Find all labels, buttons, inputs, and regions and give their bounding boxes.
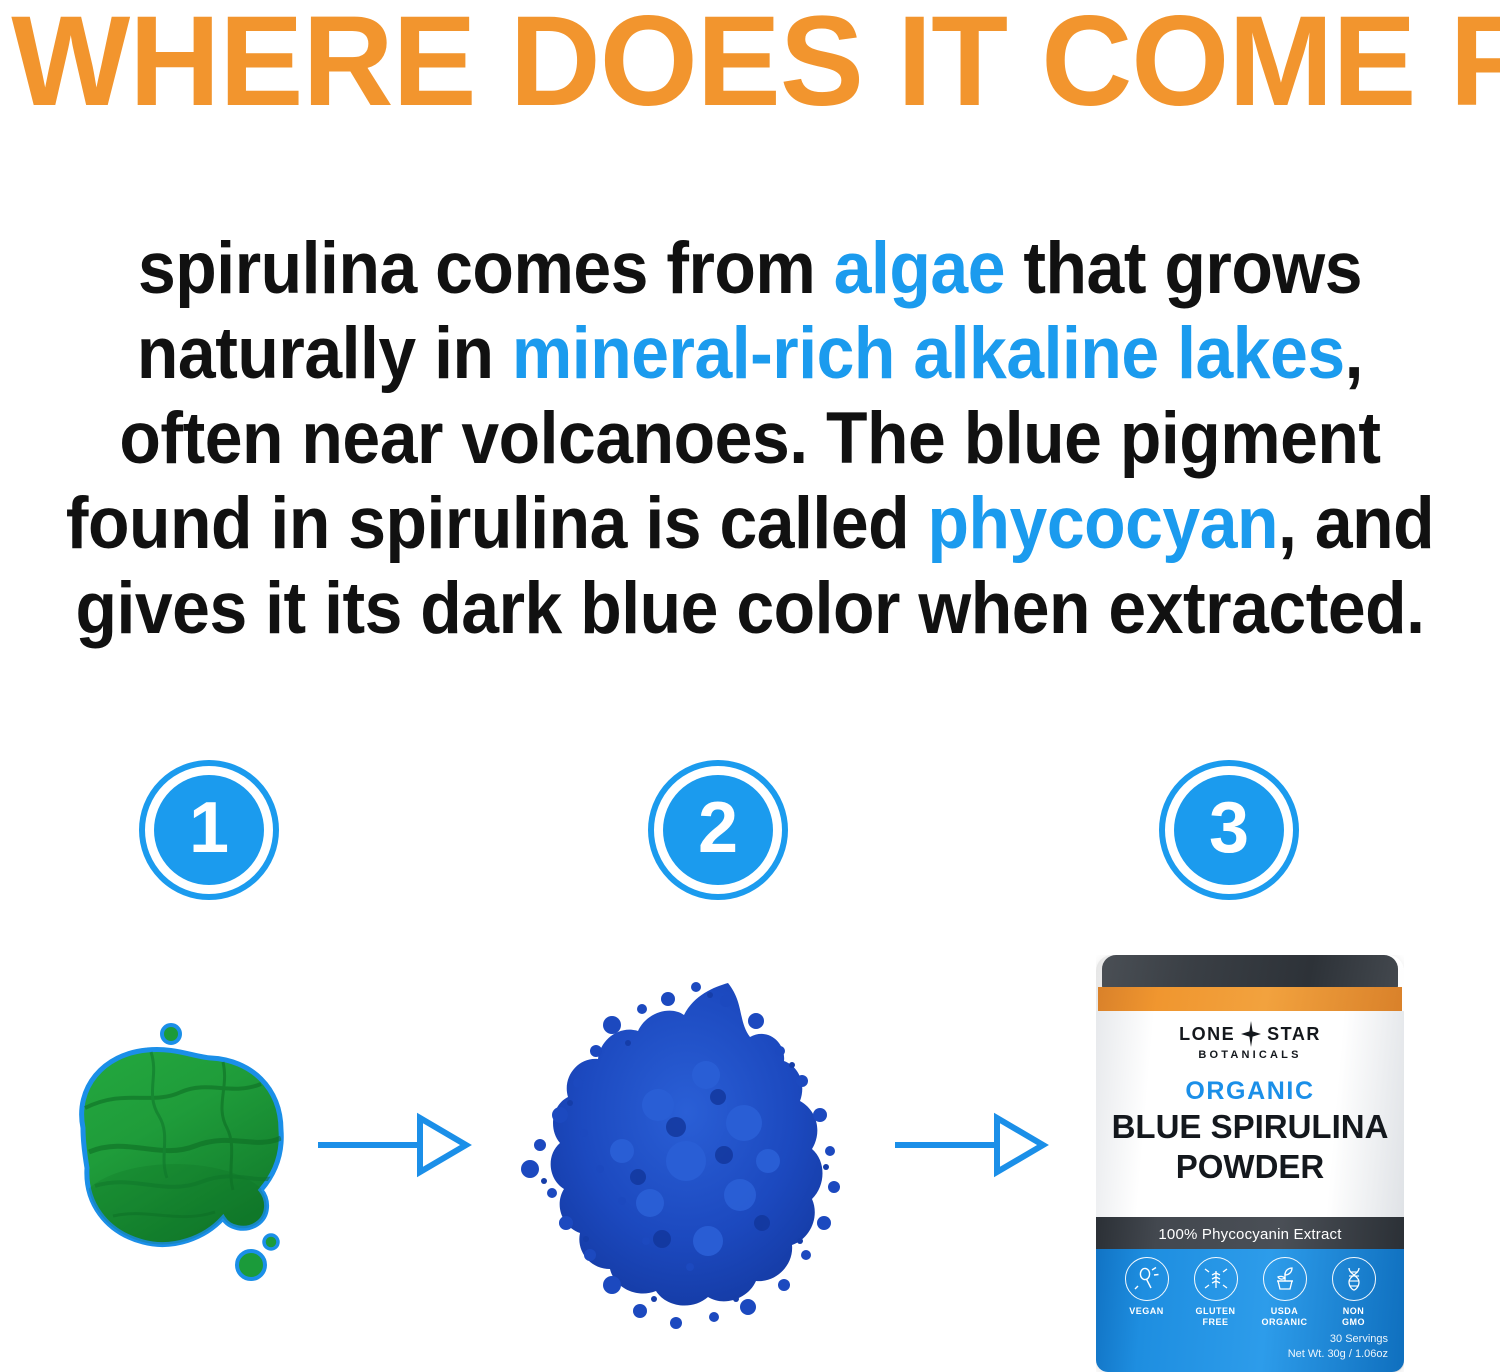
extract-claim-band: 100% Phycocyanin Extract <box>1096 1217 1404 1251</box>
step-number-3: 3 <box>1174 775 1284 885</box>
cert-non-gmo: NONGMO <box>1325 1257 1383 1328</box>
product-organic-label: ORGANIC <box>1096 1077 1404 1106</box>
arrow-right-icon-2 <box>893 1105 1053 1185</box>
algae-illustration <box>55 1010 345 1290</box>
cert-gluten-free: GLUTENFREE <box>1187 1257 1245 1328</box>
cert-vegan: VEGAN <box>1118 1257 1176 1328</box>
body-line-5: gives it its dark blue color when extrac… <box>53 566 1448 651</box>
extract-claim-text: 100% Phycocyanin Extract <box>1158 1226 1341 1243</box>
cert-label-gluten-free: GLUTENFREE <box>1196 1306 1236 1328</box>
net-weight-text: Net Wt. 30g / 1.06oz <box>1288 1347 1388 1362</box>
product-pouch: LONE STAR BOTANICALS ORGANIC BLUE SPIRUL… <box>1096 955 1404 1372</box>
body-line-3: often near volcanoes. The blue pigment <box>53 396 1448 481</box>
spoon-icon <box>1125 1257 1169 1301</box>
cert-usda-organic: USDAORGANIC <box>1256 1257 1314 1328</box>
step-number-2: 2 <box>663 775 773 885</box>
cert-label-vegan: VEGAN <box>1129 1306 1164 1317</box>
body-line-2: naturally in mineral-rich alkaline lakes… <box>53 311 1448 396</box>
certification-badges: VEGAN GLUTENFREE <box>1096 1257 1404 1328</box>
cert-label-usda-organic: USDAORGANIC <box>1262 1306 1308 1328</box>
blue-powder-illustration <box>500 955 910 1335</box>
four-point-star-icon <box>1241 1021 1261 1047</box>
step-number-1: 1 <box>154 775 264 885</box>
page-title: WHERE DOES IT COME FROM? <box>11 0 1489 128</box>
infographic-page: WHERE DOES IT COME FROM? spirulina comes… <box>0 0 1500 1372</box>
body-line-4: found in spirulina is called phycocyan, … <box>53 481 1448 566</box>
pouch-orange-band <box>1098 987 1402 1013</box>
wheat-icon <box>1194 1257 1238 1301</box>
brand-logo: LONE STAR BOTANICALS <box>1096 1021 1404 1061</box>
step-badge-1: 1 <box>139 760 279 900</box>
plant-pot-icon <box>1263 1257 1307 1301</box>
step-badge-3: 3 <box>1159 760 1299 900</box>
dna-icon <box>1332 1257 1376 1301</box>
net-info: 30 Servings Net Wt. 30g / 1.06oz <box>1288 1332 1388 1362</box>
product-name-line-1: BLUE SPIRULINA <box>1096 1107 1404 1147</box>
cert-label-non-gmo: NONGMO <box>1342 1306 1365 1328</box>
brand-word-lone: LONE <box>1179 1024 1235 1045</box>
brand-subtitle: BOTANICALS <box>1198 1049 1301 1061</box>
body-paragraph: spirulina comes from algae that growsnat… <box>53 226 1448 651</box>
product-name-line-2: POWDER <box>1096 1148 1404 1186</box>
servings-text: 30 Servings <box>1288 1332 1388 1347</box>
step-badge-2: 2 <box>648 760 788 900</box>
body-line-1: spirulina comes from algae that grows <box>53 226 1448 311</box>
brand-word-star: STAR <box>1267 1024 1321 1045</box>
pouch-top-seal <box>1102 955 1398 989</box>
